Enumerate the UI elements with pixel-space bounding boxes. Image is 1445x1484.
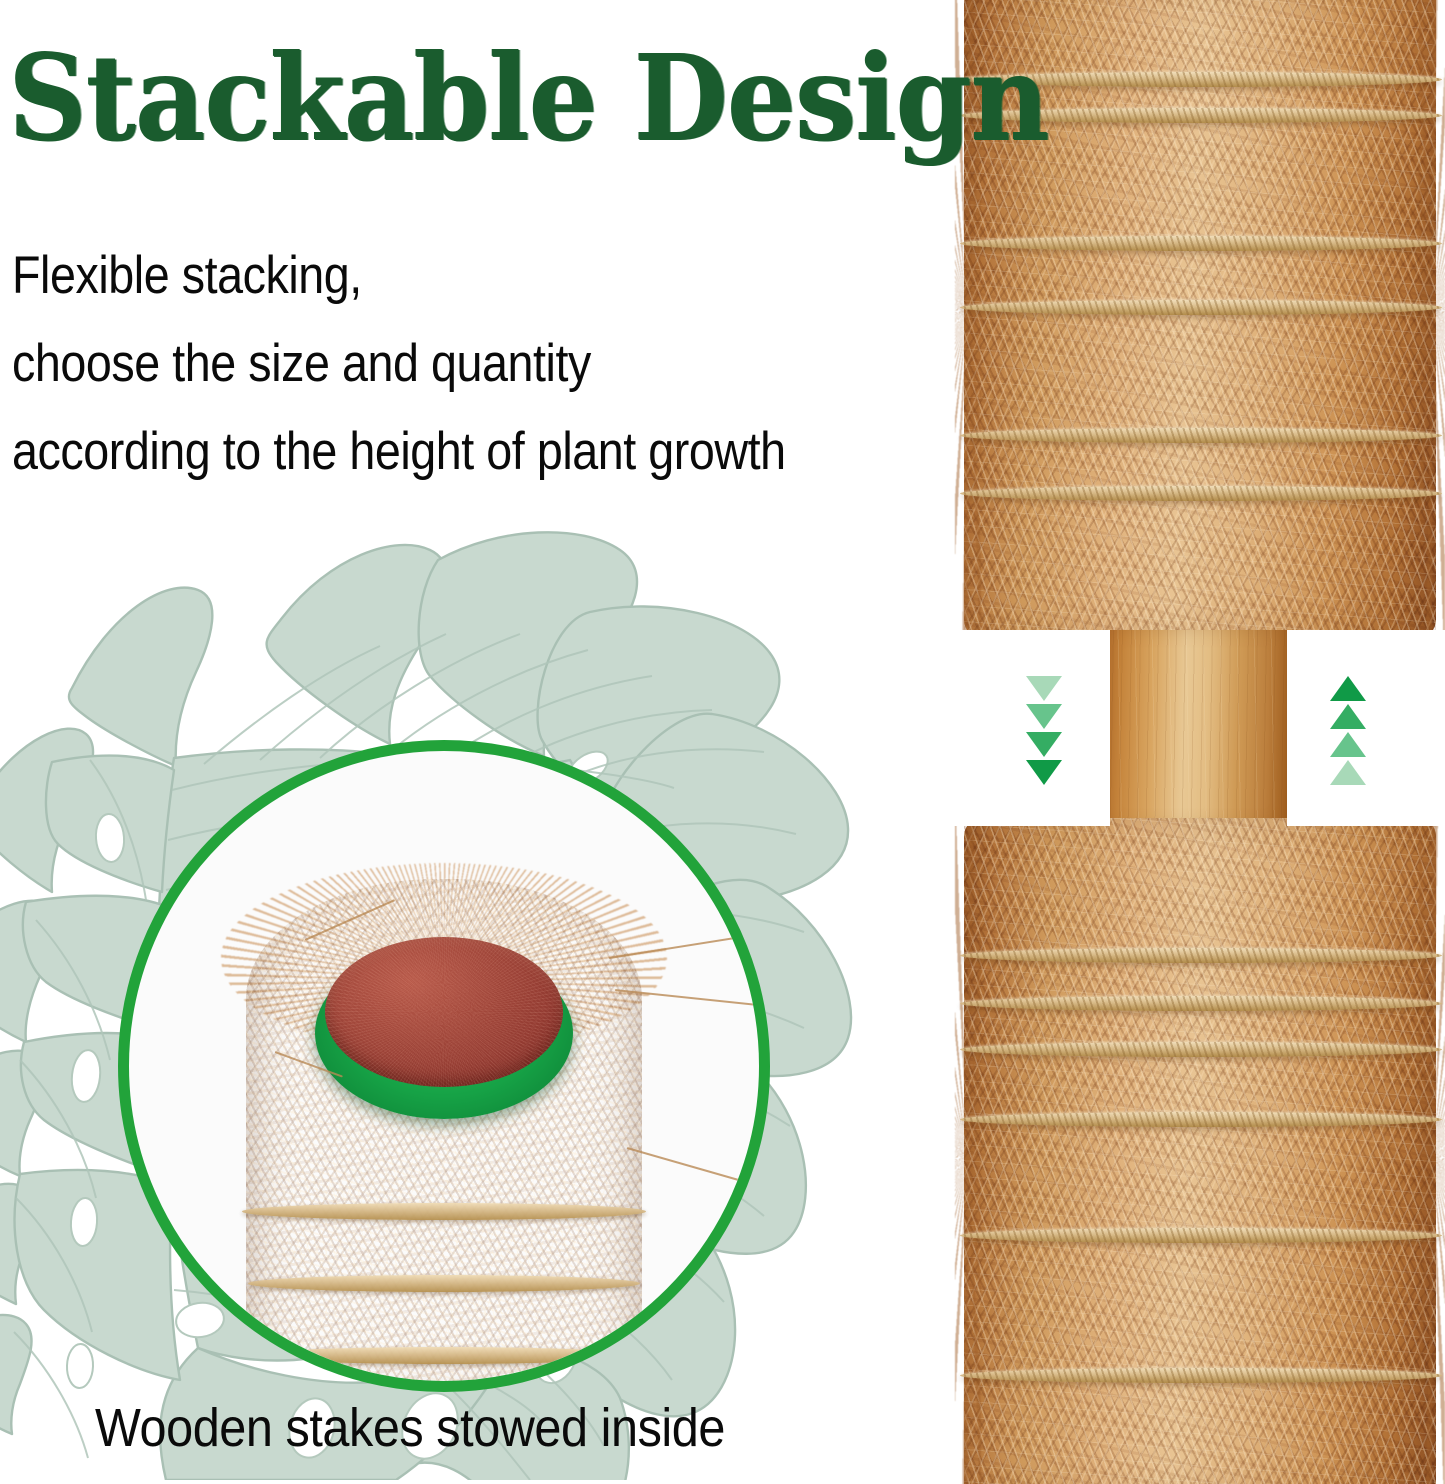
infographic-canvas: Stackable Design Flexible stacking, choo… — [0, 0, 1445, 1484]
stack-down-arrows — [1026, 676, 1062, 788]
wooden-stake-dowel — [1104, 630, 1287, 826]
cap-red-face — [325, 937, 563, 1087]
lower-pole-twine-band — [960, 1228, 1442, 1243]
upper-pole-twine-band — [960, 486, 1442, 501]
coir-moss-pole-lower — [964, 818, 1436, 1484]
lower-pole-twine-band — [960, 948, 1442, 963]
coir-pole-top-detail-circle — [118, 740, 770, 1392]
lower-pole-twine-band — [960, 1112, 1442, 1127]
description-line-3: according to the height of plant growth — [12, 408, 892, 496]
dowel-wood-grain — [1104, 630, 1287, 826]
description-line-1: Flexible stacking, — [12, 232, 892, 320]
upper-pole-twine-band — [960, 236, 1442, 251]
lower-pole-twine-band — [960, 996, 1442, 1011]
chevron-down-icon — [1026, 676, 1062, 701]
lower-pole-left-edge — [955, 818, 981, 1484]
chevron-up-icon — [1330, 760, 1366, 785]
chevron-down-icon — [1026, 732, 1062, 757]
chevron-up-icon — [1330, 676, 1366, 701]
page-title: Stackable Design — [8, 38, 1048, 158]
chevron-down-icon — [1026, 760, 1062, 785]
lower-pole-twine-band — [960, 1042, 1442, 1057]
chevron-up-icon — [1330, 732, 1366, 757]
description-block: Flexible stacking, choose the size and q… — [12, 232, 892, 496]
stack-up-arrows — [1330, 676, 1366, 788]
lower-pole-fiber-highlights — [964, 818, 1436, 1484]
description-line-2: choose the size and quantity — [12, 320, 892, 408]
detail-twine-band — [252, 1347, 636, 1364]
detail-twine-band — [248, 1275, 640, 1292]
upper-pole-twine-band — [960, 428, 1442, 443]
stray-fiber — [627, 1147, 741, 1181]
chevron-up-icon — [1330, 704, 1366, 729]
upper-pole-twine-band — [960, 300, 1442, 315]
upper-pole-right-edge — [1419, 0, 1445, 638]
lower-pole-right-edge — [1419, 818, 1445, 1484]
lower-pole-twine-band — [960, 1368, 1442, 1383]
detail-caption: Wooden stakes stowed inside — [95, 1396, 725, 1460]
detail-circle-content — [129, 751, 759, 1381]
detail-twine-band — [242, 1203, 646, 1220]
chevron-down-icon — [1026, 704, 1062, 729]
pole-gap-mask-right — [1287, 630, 1445, 826]
